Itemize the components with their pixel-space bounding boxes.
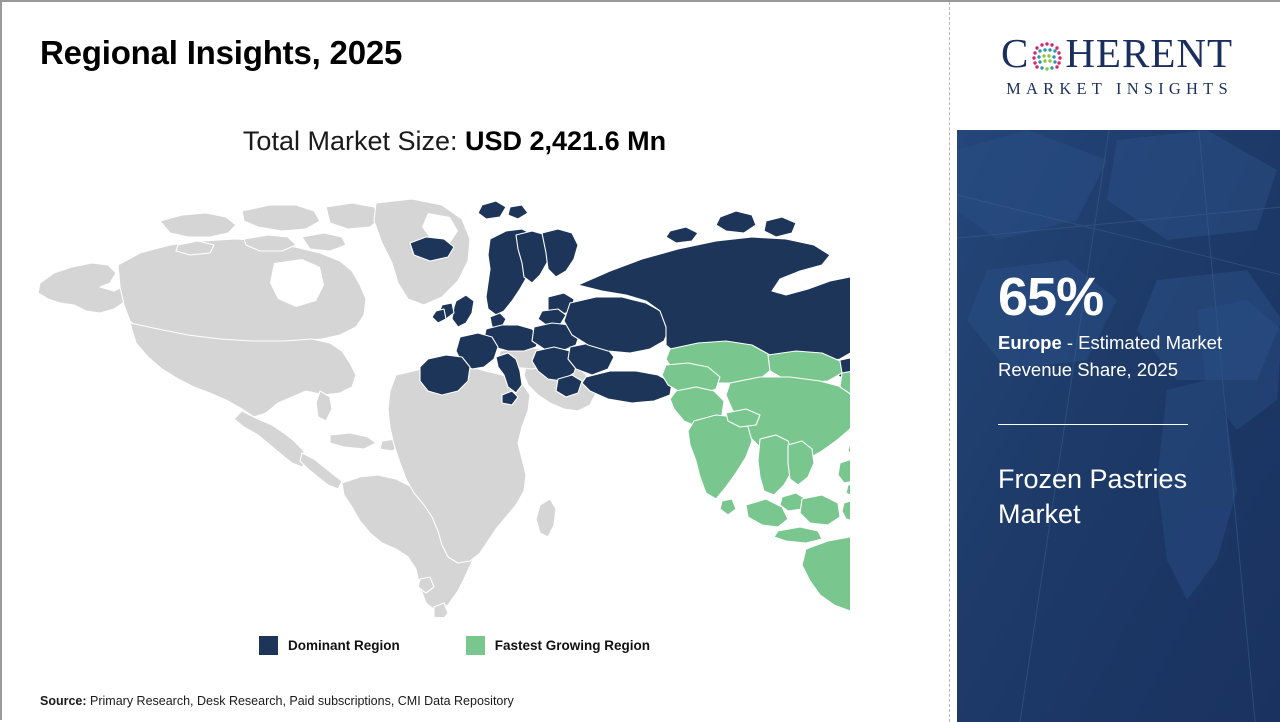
- stat-region-name: Europe: [998, 332, 1062, 353]
- total-market-size-label: Total Market Size:: [243, 126, 465, 156]
- legend-swatch-fastest-growing: [466, 636, 485, 655]
- map-legend: Dominant Region Fastest Growing Region: [2, 636, 907, 655]
- source-note: Source: Primary Research, Desk Research,…: [40, 694, 514, 708]
- total-market-size-value: USD 2,421.6 Mn: [465, 126, 666, 156]
- company-logo: C: [952, 2, 1280, 130]
- legend-label-fastest-growing: Fastest Growing Region: [495, 638, 650, 653]
- logo-wordmark: C: [1001, 33, 1233, 74]
- stat-panel: 65% Europe - Estimated Market Revenue Sh…: [957, 130, 1280, 722]
- legend-item-dominant: Dominant Region: [259, 636, 400, 655]
- vertical-divider: [949, 2, 950, 722]
- world-map: [30, 187, 850, 617]
- world-map-svg: [30, 187, 850, 617]
- brand-pane: C: [952, 2, 1280, 722]
- map-region-asia-pacific-fastest: [662, 341, 850, 617]
- legend-label-dominant: Dominant Region: [288, 638, 400, 653]
- dotted-sphere-icon: [1030, 39, 1064, 73]
- stat-content: 65% Europe - Estimated Market Revenue Sh…: [998, 130, 1258, 722]
- stat-description: Europe - Estimated Market Revenue Share,…: [998, 330, 1243, 384]
- page-title: Regional Insights, 2025: [40, 34, 402, 72]
- legend-swatch-dominant: [259, 636, 278, 655]
- source-label: Source:: [40, 694, 87, 708]
- source-text: Primary Research, Desk Research, Paid su…: [87, 694, 514, 708]
- logo-tagline: MARKET INSIGHTS: [1001, 79, 1233, 99]
- legend-item-fastest-growing: Fastest Growing Region: [466, 636, 650, 655]
- total-market-size: Total Market Size: USD 2,421.6 Mn: [2, 126, 907, 157]
- market-name: Frozen Pastries Market: [998, 462, 1248, 532]
- stat-percentage: 65%: [998, 270, 1103, 324]
- map-pane: Regional Insights, 2025 Total Market Siz…: [2, 2, 949, 720]
- logo-letter-c: C: [1001, 33, 1029, 74]
- panel-divider-rule: [998, 424, 1188, 425]
- regional-insights-infographic: Regional Insights, 2025 Total Market Siz…: [0, 0, 1280, 720]
- logo-letters-herent: HERENT: [1065, 33, 1233, 74]
